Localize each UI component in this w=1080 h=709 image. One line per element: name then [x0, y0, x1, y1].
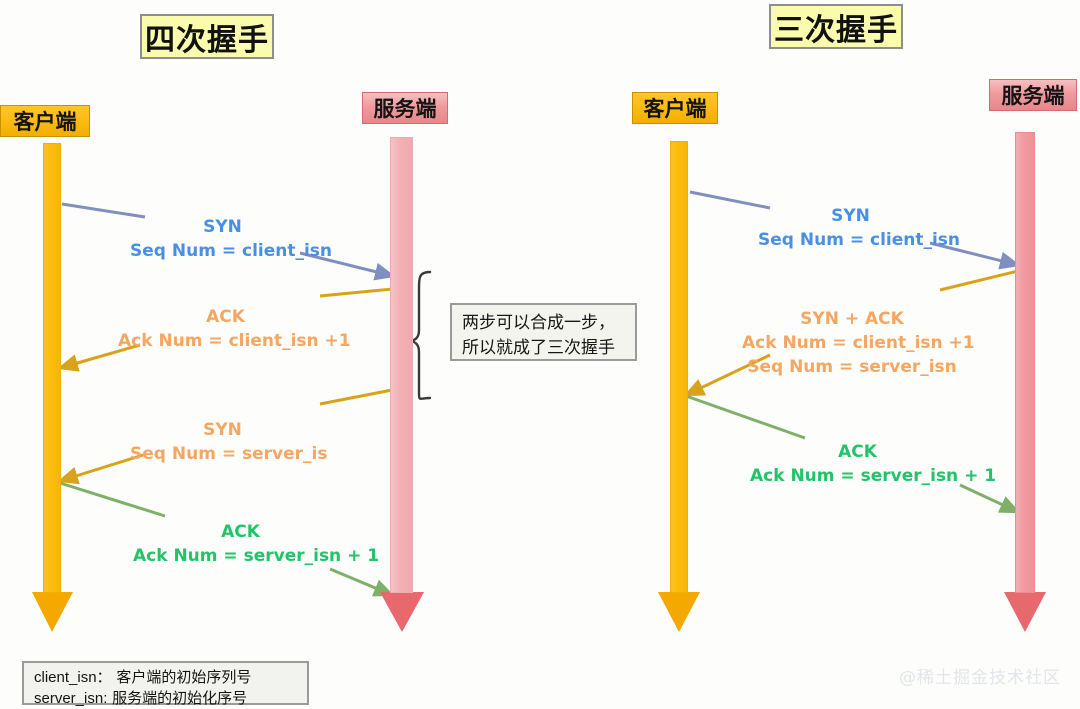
right-message-syn-1-header: SYN: [758, 204, 943, 228]
right-client-lifeline-arrowhead: [658, 592, 700, 632]
legend-box: client_isn： 客户端的初始序列号 server_isn: 服务端的初始…: [22, 661, 309, 705]
left-server-actor-box: 服务端: [362, 92, 448, 124]
left-message-syn-2-body: Seq Num = server_is: [130, 442, 315, 466]
merge-annotation-line2: 所以就成了三次握手: [462, 336, 627, 361]
left-server-lifeline: [390, 137, 413, 593]
left-message-ack-2-body: Ack Num = server_isn + 1: [133, 544, 348, 568]
left-message-ack-2: ACK Ack Num = server_isn + 1: [133, 520, 348, 568]
right-message-syn-ack-body2: Seq Num = server_isn: [742, 355, 962, 379]
left-message-syn-1-body: Seq Num = client_isn: [130, 239, 315, 263]
right-message-syn-1-body: Seq Num = client_isn: [758, 228, 943, 252]
right-message-syn-ack-header: SYN + ACK: [742, 307, 962, 331]
merge-annotation-box: 两步可以合成一步， 所以就成了三次握手: [450, 303, 637, 361]
left-message-ack-1: ACK Ack Num = client_isn +1: [118, 305, 333, 353]
right-client-actor-box: 客户端: [632, 92, 718, 124]
left-message-syn-1-header: SYN: [130, 215, 315, 239]
left-message-syn-2-header: SYN: [130, 418, 315, 442]
left-message-ack-1-body: Ack Num = client_isn +1: [118, 329, 333, 353]
right-message-ack: ACK Ack Num = server_isn + 1: [750, 440, 965, 488]
left-message-ack-1-header: ACK: [118, 305, 333, 329]
right-message-syn-ack: SYN + ACK Ack Num = client_isn +1 Seq Nu…: [742, 307, 962, 379]
left-message-syn-1: SYN Seq Num = client_isn: [130, 215, 315, 263]
merge-brace: [411, 272, 430, 399]
right-server-actor-box: 服务端: [989, 79, 1077, 111]
title-three-way-handshake: 三次握手: [769, 4, 903, 49]
legend-key-client-isn: client_isn：: [34, 669, 112, 686]
right-client-lifeline: [670, 141, 688, 593]
right-server-lifeline-arrowhead: [1004, 592, 1046, 632]
legend-key-server-isn: server_isn:: [34, 690, 107, 707]
right-server-lifeline: [1015, 132, 1035, 593]
merge-annotation-line1: 两步可以合成一步，: [462, 311, 627, 336]
diagram-canvas: 四次握手 三次握手 客户端 服务端 SYN Seq Num = client_i…: [0, 0, 1080, 709]
left-client-lifeline-arrowhead: [32, 592, 73, 632]
legend-row-client-isn: client_isn： 客户端的初始序列号: [34, 667, 299, 688]
left-message-ack-2-header: ACK: [133, 520, 348, 544]
watermark: @稀土掘金技术社区: [899, 663, 1061, 688]
left-client-actor-box: 客户端: [0, 105, 90, 137]
left-client-lifeline: [43, 143, 61, 593]
left-server-lifeline-arrowhead: [380, 592, 424, 632]
right-message-syn-ack-body: Ack Num = client_isn +1: [742, 331, 962, 355]
legend-row-server-isn: server_isn: 服务端的初始化序号: [34, 688, 299, 709]
left-message-syn-2: SYN Seq Num = server_is: [130, 418, 315, 466]
right-message-syn-1: SYN Seq Num = client_isn: [758, 204, 943, 252]
right-message-ack-body: Ack Num = server_isn + 1: [750, 464, 965, 488]
title-four-way-handshake: 四次握手: [140, 14, 274, 59]
legend-value-server-isn: 服务端的初始化序号: [112, 689, 247, 707]
legend-value-client-isn: 客户端的初始序列号: [116, 668, 251, 686]
right-message-ack-header: ACK: [750, 440, 965, 464]
